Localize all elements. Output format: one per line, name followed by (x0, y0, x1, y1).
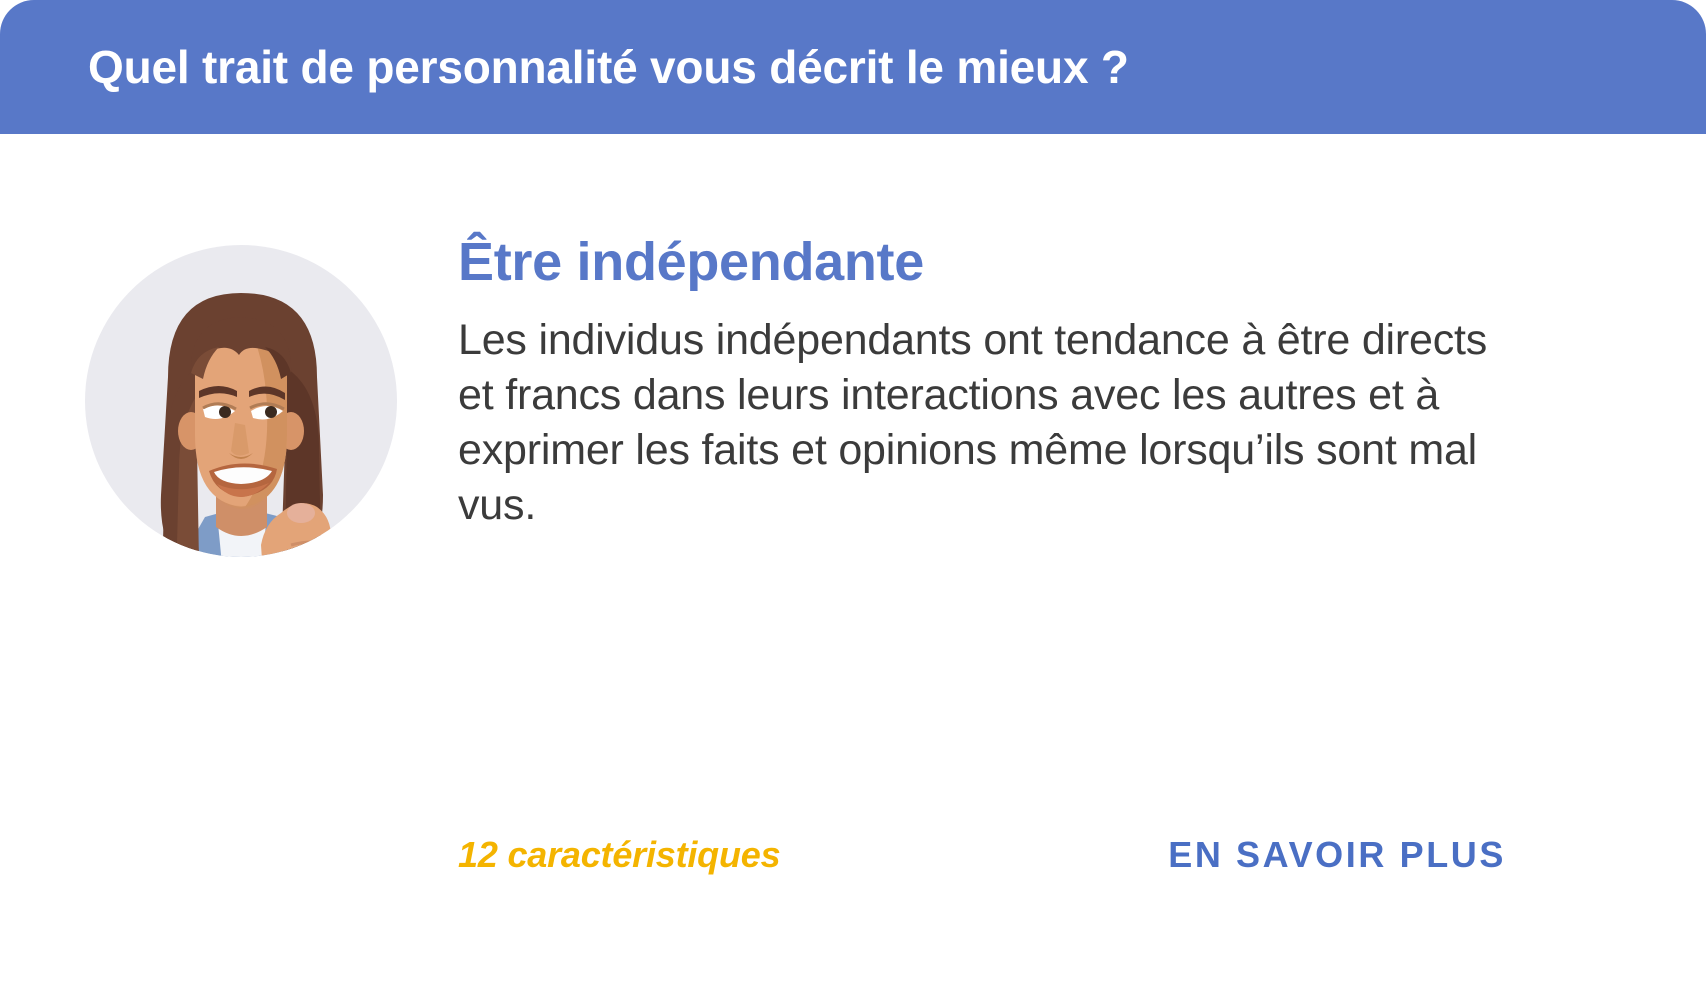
card-footer: 12 caractéristiques EN SAVOIR PLUS (458, 834, 1518, 876)
learn-more-link[interactable]: EN SAVOIR PLUS (1168, 834, 1518, 876)
avatar (85, 245, 397, 557)
avatar-woman-pointing-illustration (85, 245, 397, 557)
trait-content: Être indépendante Les individus indépend… (458, 134, 1578, 533)
page-title: Quel trait de personnalité vous décrit l… (88, 40, 1129, 94)
trait-title: Être indépendante (458, 134, 1578, 291)
card-header: Quel trait de personnalité vous décrit l… (0, 0, 1706, 134)
characteristics-count[interactable]: 12 caractéristiques (458, 834, 780, 876)
trait-description: Les individus indépendants ont tendance … (458, 291, 1498, 533)
avatar-circle-background (85, 245, 397, 557)
card-body: Être indépendante Les individus indépend… (0, 134, 1706, 996)
personality-trait-card: Quel trait de personnalité vous décrit l… (0, 0, 1706, 996)
